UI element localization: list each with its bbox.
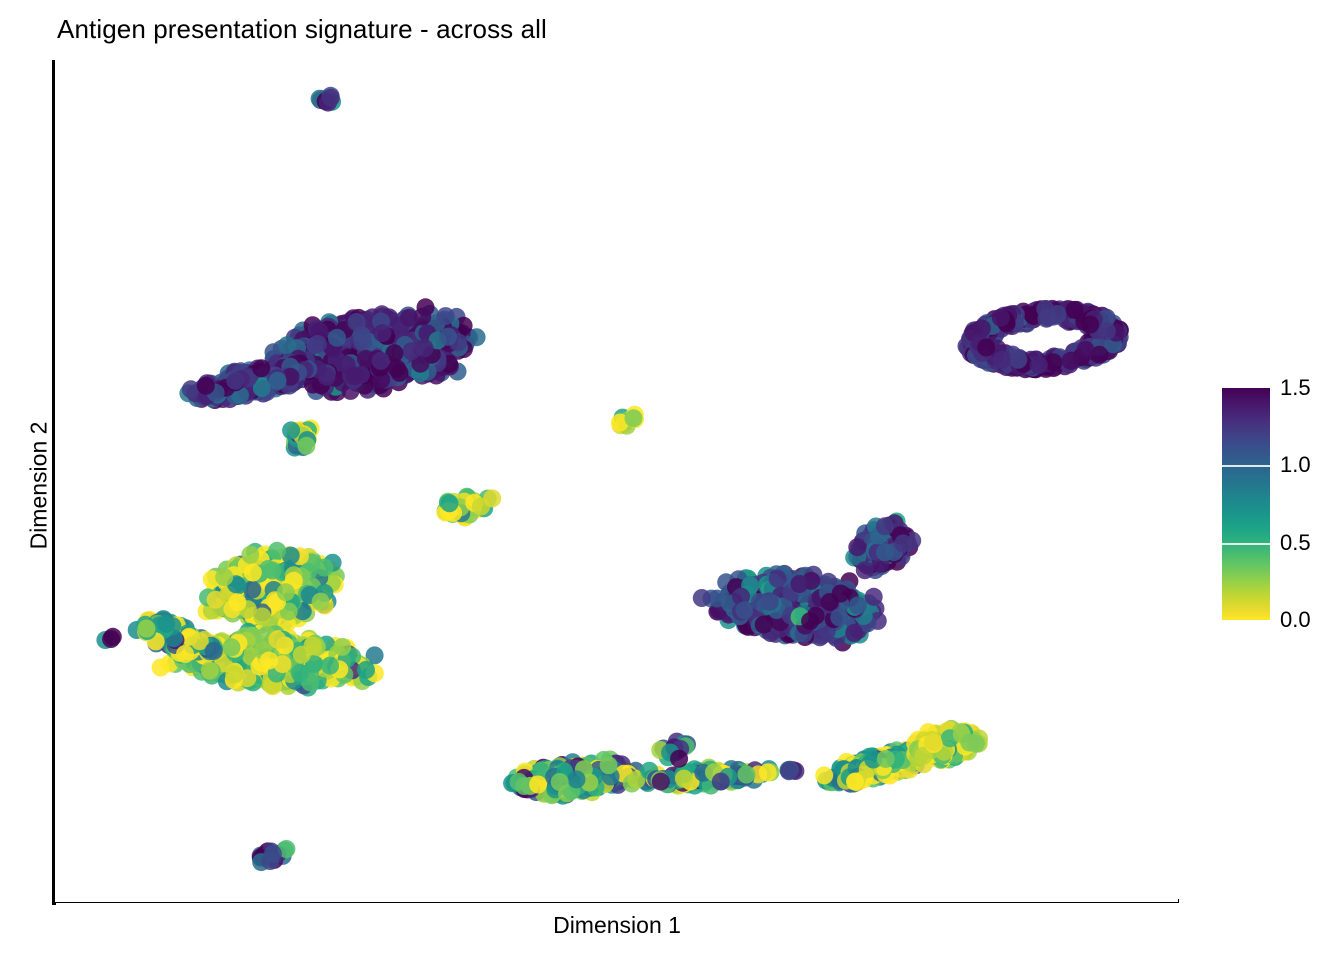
scatter-point (152, 659, 170, 677)
scatter-point (348, 313, 366, 331)
scatter-point (712, 773, 730, 791)
scatter-point (894, 534, 912, 552)
scatter-point (223, 638, 241, 656)
scatter-point (346, 367, 364, 385)
colorbar-tick-label: 0.5 (1280, 530, 1311, 556)
scatter-point (992, 309, 1010, 327)
scatter-point (282, 421, 300, 439)
scatter-point (856, 561, 874, 579)
scatter-point (675, 770, 693, 788)
colorbar-tick-label: 1.5 (1280, 375, 1311, 401)
x-axis-label: Dimension 1 (0, 912, 1234, 939)
scatter-point (1081, 316, 1099, 334)
scatter-point (1009, 351, 1027, 369)
scatter-point (1062, 352, 1080, 370)
scatter-point (960, 734, 978, 752)
scatter-cluster (693, 565, 887, 652)
scatter-point (483, 489, 501, 507)
scatter-point (215, 568, 233, 586)
scatter-point (321, 657, 339, 675)
scatter-point (264, 845, 282, 863)
scatter-cluster (198, 542, 345, 637)
scatter-point (277, 583, 295, 601)
scatter-point (845, 624, 863, 642)
scatter-point (176, 645, 194, 663)
scatter-cluster (96, 628, 121, 649)
scatter-point (790, 575, 808, 593)
colorbar-tick-label: 1.0 (1280, 452, 1311, 478)
scatter-point (801, 612, 819, 630)
page-title: Antigen presentation signature - across … (57, 14, 547, 44)
scatter-point (652, 773, 670, 791)
scatter-cluster (252, 840, 296, 871)
scatter-point (625, 409, 643, 427)
scatter-point (201, 662, 219, 680)
scatter-cluster (311, 87, 342, 112)
scatter-point (1077, 341, 1095, 359)
scatter-point (182, 380, 200, 398)
scatter-point (328, 329, 346, 347)
scatter-point (830, 608, 848, 626)
scatter-point (263, 562, 281, 580)
scatter-point (253, 608, 271, 626)
scatter-point (551, 773, 569, 791)
scatter-point (138, 620, 156, 638)
plot-panel (55, 60, 1178, 902)
scatter-point (197, 377, 215, 395)
scatter-point (372, 352, 390, 370)
colorbar-tick-mark (1222, 543, 1270, 545)
scatter-point (205, 642, 223, 660)
scatter-point (260, 652, 278, 670)
scatter-point (759, 763, 777, 781)
scatter-point (821, 593, 839, 611)
scatter-point (780, 762, 798, 780)
colorbar-tick-label: 0.0 (1280, 607, 1311, 633)
scatter-cluster (503, 751, 645, 805)
scatter-cluster (623, 759, 780, 795)
scatter-point (737, 766, 755, 784)
scatter-point (600, 756, 618, 774)
scatter-point (1030, 356, 1048, 374)
scatter-point (670, 750, 688, 768)
colorbar-gradient-fill (1222, 388, 1270, 620)
scatter-point (252, 359, 270, 377)
scatter-point (241, 546, 259, 564)
scatter-point (848, 538, 866, 556)
scatter-point (291, 664, 309, 682)
scatter-cluster (611, 406, 644, 435)
colorbar-legend: 0.00.51.01.5 (1206, 372, 1326, 640)
scatter-point (736, 601, 754, 619)
scatter-cluster (906, 720, 988, 769)
scatter-point (815, 766, 833, 784)
scatter-point (877, 750, 895, 768)
scatter-cluster (845, 513, 921, 580)
scatter-point (1098, 322, 1116, 340)
scatter-point (876, 543, 894, 561)
scatter-cluster (958, 300, 1129, 378)
scatter-point (228, 593, 246, 611)
scatter-point (977, 339, 995, 357)
figure-root: Antigen presentation signature - across … (0, 0, 1344, 960)
scatter-point (225, 666, 243, 684)
scatter-point (373, 324, 391, 342)
y-axis-label: Dimension 2 (26, 65, 53, 907)
scatter-point (268, 542, 286, 560)
scatter-point (924, 733, 942, 751)
scatter-point (309, 335, 327, 353)
scatter-point (568, 770, 586, 788)
scatter-point (312, 593, 330, 611)
scatter-svg (55, 60, 1178, 902)
scatter-cluster (436, 488, 501, 527)
scatter-point (751, 593, 769, 611)
scatter-point (304, 636, 322, 654)
colorbar-tick-mark (1222, 465, 1270, 467)
scatter-point (322, 89, 340, 107)
scatter-point (769, 570, 787, 588)
scatter-point (268, 631, 286, 649)
scatter-point (400, 309, 418, 327)
colorbar-gradient-bar (1222, 388, 1270, 620)
scatter-point (1036, 300, 1054, 318)
scatter-point (439, 328, 457, 346)
scatter-point (269, 372, 287, 390)
scatter-point (755, 616, 773, 634)
scatter-point (402, 342, 420, 360)
scatter-point (333, 638, 351, 656)
scatter-point (388, 359, 406, 377)
scatter-point (244, 564, 262, 582)
scatter-point (102, 630, 120, 648)
scatter-cluster (780, 761, 805, 781)
scatter-cluster (282, 420, 320, 457)
scatter-point (876, 517, 894, 535)
scatter-points-layer (55, 60, 1178, 902)
scatter-point (846, 773, 864, 791)
scatter-point (865, 588, 883, 606)
scatter-point (441, 494, 459, 512)
scatter-point (437, 307, 455, 325)
scatter-point (693, 589, 711, 607)
scatter-point (357, 661, 375, 679)
scatter-point (529, 776, 547, 794)
scatter-point (849, 596, 867, 614)
scatter-point (297, 437, 315, 455)
scatter-point (226, 372, 244, 390)
scatter-point (157, 615, 175, 633)
scatter-point (993, 351, 1011, 369)
